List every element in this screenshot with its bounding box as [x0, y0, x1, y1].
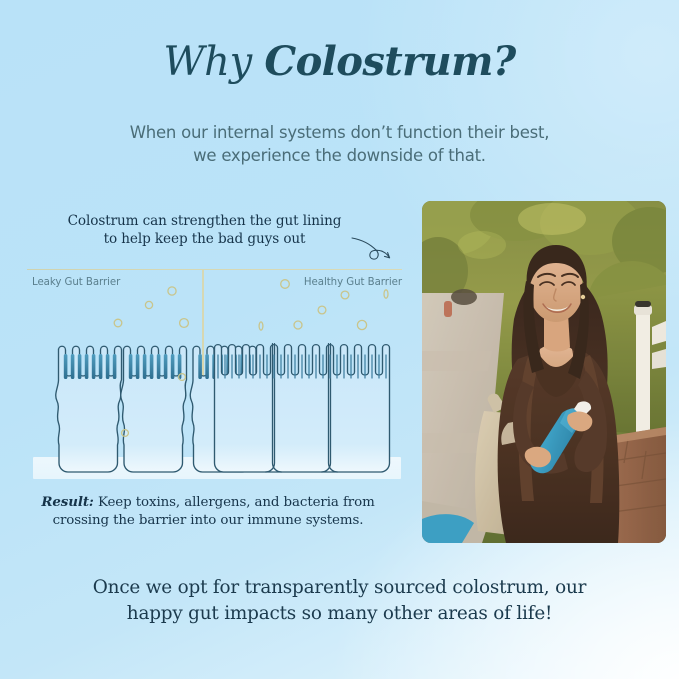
particle — [294, 321, 302, 329]
result-text-line2: crossing the barrier into our immune sys… — [22, 512, 394, 530]
particle — [179, 374, 186, 381]
lifestyle-photo — [422, 201, 666, 543]
page-subtitle-line1: When our internal systems don’t function… — [0, 121, 679, 144]
lifestyle-photo-image — [422, 201, 666, 543]
page-title: Why Colostrum? — [0, 40, 679, 85]
particle — [114, 319, 122, 327]
result-text-line1: Keep toxins, allergens, and bacteria fro… — [94, 495, 375, 510]
particle — [384, 290, 388, 298]
toxin-particles — [22, 205, 407, 495]
page-subtitle-line2: we experience the downside of that. — [0, 144, 679, 167]
particle — [341, 291, 349, 299]
page-title-part2: Colostrum? — [264, 38, 515, 85]
particle — [145, 301, 152, 308]
footer-line1: Once we opt for transparently sourced co… — [0, 575, 679, 601]
particle — [168, 287, 176, 295]
particle — [281, 280, 290, 289]
diagram-result-line1: Result: Keep toxins, allergens, and bact… — [22, 493, 394, 512]
particle — [180, 319, 189, 328]
footer-line2: happy gut impacts so many other areas of… — [0, 601, 679, 627]
page-subtitle: When our internal systems don’t function… — [0, 121, 679, 168]
particle — [318, 306, 326, 314]
poster-root: Why Colostrum? When our internal systems… — [0, 0, 679, 679]
result-label: Result: — [41, 494, 93, 510]
particle — [122, 430, 129, 437]
particle — [259, 322, 263, 330]
page-title-part1: Why — [163, 39, 264, 85]
diagram-result: Result: Keep toxins, allergens, and bact… — [22, 493, 394, 530]
footer-message: Once we opt for transparently sourced co… — [0, 575, 679, 627]
gut-barrier-diagram: Colostrum can strengthen the gut lining … — [22, 205, 407, 540]
particle — [357, 320, 366, 329]
